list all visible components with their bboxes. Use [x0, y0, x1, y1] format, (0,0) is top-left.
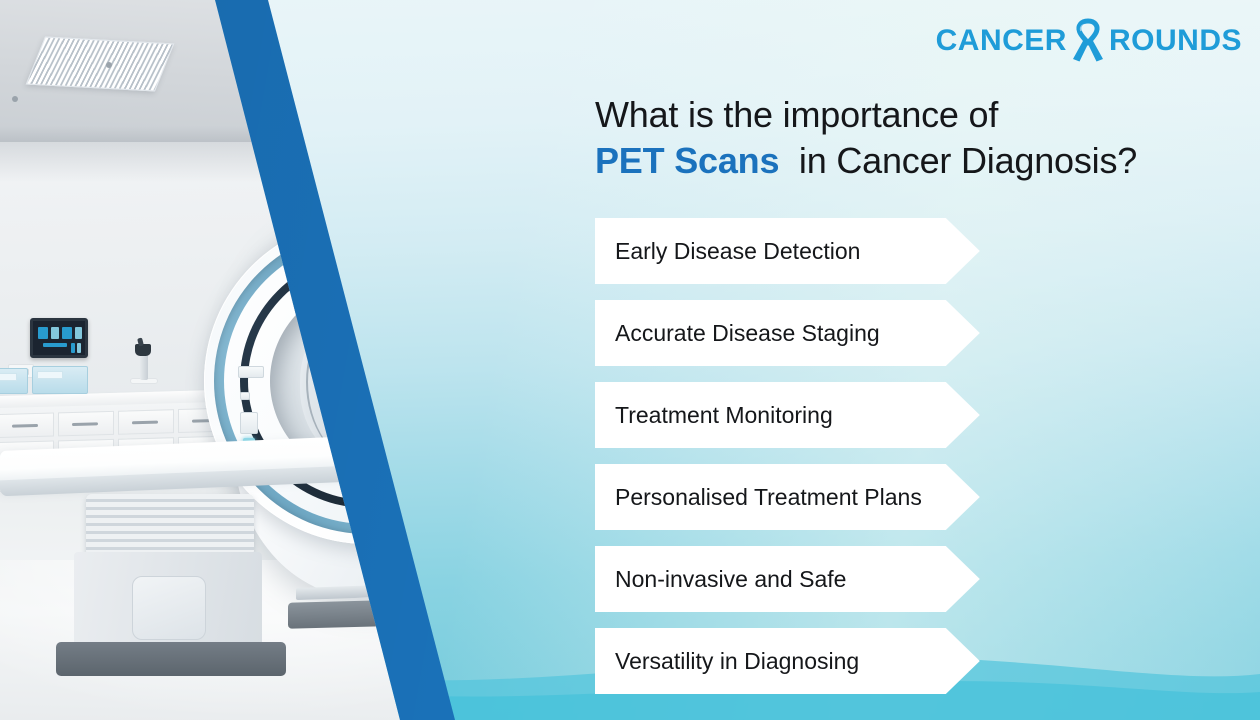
gantry-keypad-left [240, 412, 258, 434]
table-pedestal-panel [132, 576, 206, 640]
table-lift-bellows [86, 494, 254, 556]
lab-analyzer-icon [0, 368, 28, 394]
logo-word-cancer: CANCER [936, 26, 1067, 56]
logo-word-rounds: ROUNDS [1109, 26, 1242, 56]
page-title: What is the importance of PET Scans in C… [595, 92, 1215, 184]
wall-monitor-icon [30, 318, 88, 358]
list-item[interactable]: Treatment Monitoring [595, 382, 980, 448]
list-item-label: Treatment Monitoring [615, 402, 833, 429]
list-item[interactable]: Versatility in Diagnosing [595, 628, 980, 694]
list-item[interactable]: Accurate Disease Staging [595, 300, 980, 366]
infographic-canvas: CANCER ROUNDS What is the importance of … [0, 0, 1260, 720]
microscope-arm [140, 352, 148, 380]
ceiling-sensor-dot [106, 62, 112, 68]
list-item-label: Accurate Disease Staging [615, 320, 880, 347]
list-item-label: Personalised Treatment Plans [615, 484, 922, 511]
awareness-ribbon-icon [1066, 18, 1110, 64]
headline-accent: PET Scans [595, 140, 779, 181]
headline-line-2: PET Scans in Cancer Diagnosis? [595, 138, 1215, 184]
gantry-label-left [238, 366, 264, 378]
list-item[interactable]: Personalised Treatment Plans [595, 464, 980, 530]
brand-logo[interactable]: CANCER ROUNDS [936, 18, 1242, 64]
list-item[interactable]: Non-invasive and Safe [595, 546, 980, 612]
headline-line-1: What is the importance of [595, 92, 1215, 138]
list-item-label: Non-invasive and Safe [615, 566, 846, 593]
headline-line-2-rest: in Cancer Diagnosis? [799, 140, 1137, 181]
list-item[interactable]: Early Disease Detection [595, 218, 980, 284]
list-item-label: Early Disease Detection [615, 238, 860, 265]
lab-analyzer-icon [32, 366, 88, 394]
microscope-head [135, 344, 151, 356]
ceiling-light-panel-icon [26, 37, 175, 92]
ceiling-sensor-dot [12, 96, 18, 102]
list-item-label: Versatility in Diagnosing [615, 648, 859, 675]
table-base-plinth [56, 642, 286, 676]
gantry-button-left [240, 392, 250, 400]
benefits-list: Early Disease Detection Accurate Disease… [595, 218, 980, 694]
